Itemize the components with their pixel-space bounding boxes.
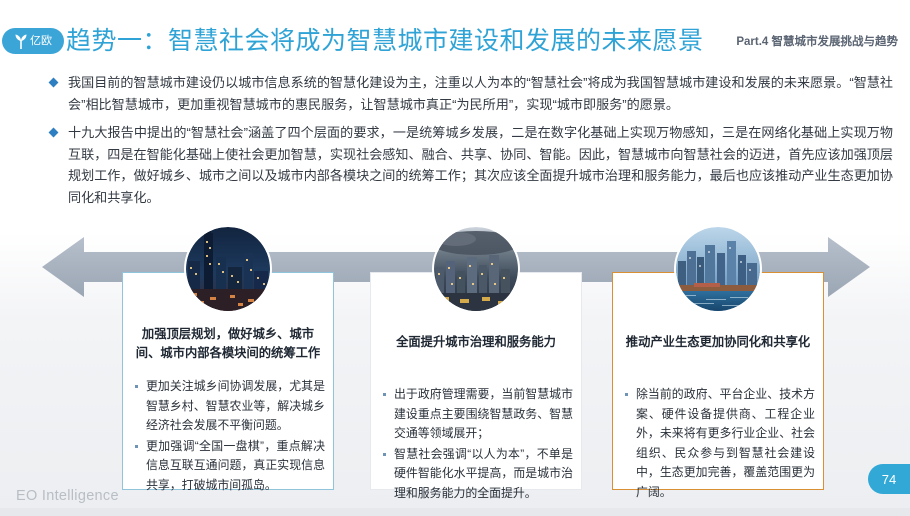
waterfront-skyline-photo [674, 225, 762, 313]
list-item-text: 更加关注城乡间协调发展，尤其是智慧乡村、智慧农业等，解决城乡经济社会发展不平衡问… [146, 379, 325, 432]
list-item: 除当前的政府、平台企业、技术方案、硬件设备提供商、工程企业外，未来将有更多行业企… [623, 385, 815, 502]
paragraph-text: 十九大报告中提出的“智慧社会”涵盖了四个层面的要求，一是统筹城乡发展，二是在数字… [68, 125, 893, 205]
section-label: Part.4 智慧城市发展挑战与趋势 [736, 33, 898, 49]
intro-paragraphs: 我国目前的智慧城市建设仍以城市信息系统的智慧化建设为主，注重以人为本的“智慧社会… [48, 72, 893, 215]
card-industry-ecosystem[interactable]: 推动产业生态更加协同化和共享化 除当前的政府、平台企业、技术方案、硬件设备提供商… [612, 272, 824, 490]
sprout-logo-icon [14, 33, 28, 49]
page-title: 趋势一：智慧社会将成为智慧城市建设和发展的未来愿景 [66, 21, 704, 57]
aerial-city-photo [432, 225, 520, 313]
footer-brand: EO Intelligence [16, 488, 119, 504]
slide-root: 亿欧 趋势一：智慧社会将成为智慧城市建设和发展的未来愿景 Part.4 智慧城市… [0, 0, 910, 516]
diamond-bullet-icon [49, 128, 59, 138]
paragraph-item: 我国目前的智慧城市建设仍以城市信息系统的智慧化建设为主，注重以人为本的“智慧社会… [48, 72, 893, 115]
bottom-strip [0, 508, 910, 516]
diamond-bullet-icon [49, 78, 59, 88]
list-item: 出于政府管理需要，当前智慧城市建设重点主要围绕智慧政务、智慧交通等领域展开； [381, 385, 573, 444]
page-number-badge: 74 [868, 464, 910, 494]
square-bullet-icon [625, 393, 628, 396]
cards-row: 加强顶层规划，做好城乡、城市间、城市内部各模块间的统筹工作 更加关注城乡间协调发… [0, 222, 910, 492]
square-bullet-icon [383, 453, 386, 456]
paragraph-text: 我国目前的智慧城市建设仍以城市信息系统的智慧化建设为主，注重以人为本的“智慧社会… [68, 75, 893, 112]
list-item: 更加关注城乡间协调发展，尤其是智慧乡村、智慧农业等，解决城乡经济社会发展不平衡问… [133, 377, 325, 436]
list-item-text: 除当前的政府、平台企业、技术方案、硬件设备提供商、工程企业外，未来将有更多行业企… [636, 387, 815, 499]
list-item-text: 出于政府管理需要，当前智慧城市建设重点主要围绕智慧政务、智慧交通等领域展开； [394, 387, 573, 440]
square-bullet-icon [135, 385, 138, 388]
list-item: 智慧社会强调“以人为本”，不单是硬件智能化水平提高，而是城市治理和服务能力的全面… [381, 445, 573, 504]
night-cityscape-photo [184, 225, 272, 313]
card-top-level-planning[interactable]: 加强顶层规划，做好城乡、城市间、城市内部各模块间的统筹工作 更加关注城乡间协调发… [122, 272, 334, 490]
card-heading: 推动产业生态更加协同化和共享化 [625, 333, 811, 352]
card-heading: 全面提升城市治理和服务能力 [383, 333, 569, 352]
slide-header: 亿欧 趋势一：智慧社会将成为智慧城市建设和发展的未来愿景 Part.4 智慧城市… [0, 0, 910, 62]
card-bullet-list: 出于政府管理需要，当前智慧城市建设重点主要围绕智慧政务、智慧交通等领域展开； 智… [381, 385, 573, 504]
card-bullet-list: 更加关注城乡间协调发展，尤其是智慧乡村、智慧农业等，解决城乡经济社会发展不平衡问… [133, 377, 325, 496]
paragraph-item: 十九大报告中提出的“智慧社会”涵盖了四个层面的要求，一是统筹城乡发展，二是在数字… [48, 122, 893, 208]
list-item-text: 智慧社会强调“以人为本”，不单是硬件智能化水平提高，而是城市治理和服务能力的全面… [394, 447, 573, 500]
square-bullet-icon [383, 393, 386, 396]
list-item-text: 更加强调“全国一盘棋”，重点解决信息互联互通问题，真正实现信息共享，打破城市间孤… [146, 439, 325, 492]
card-heading: 加强顶层规划，做好城乡、城市间、城市内部各模块间的统筹工作 [135, 325, 321, 363]
card-governance-capability[interactable]: 全面提升城市治理和服务能力 出于政府管理需要，当前智慧城市建设重点主要围绕智慧政… [370, 272, 582, 490]
card-bullet-list: 除当前的政府、平台企业、技术方案、硬件设备提供商、工程企业外，未来将有更多行业企… [623, 385, 815, 503]
square-bullet-icon [135, 445, 138, 448]
list-item: 更加强调“全国一盘棋”，重点解决信息互联互通问题，真正实现信息共享，打破城市间孤… [133, 437, 325, 496]
eo-logo: 亿欧 [2, 28, 64, 54]
logo-text: 亿欧 [30, 36, 52, 47]
